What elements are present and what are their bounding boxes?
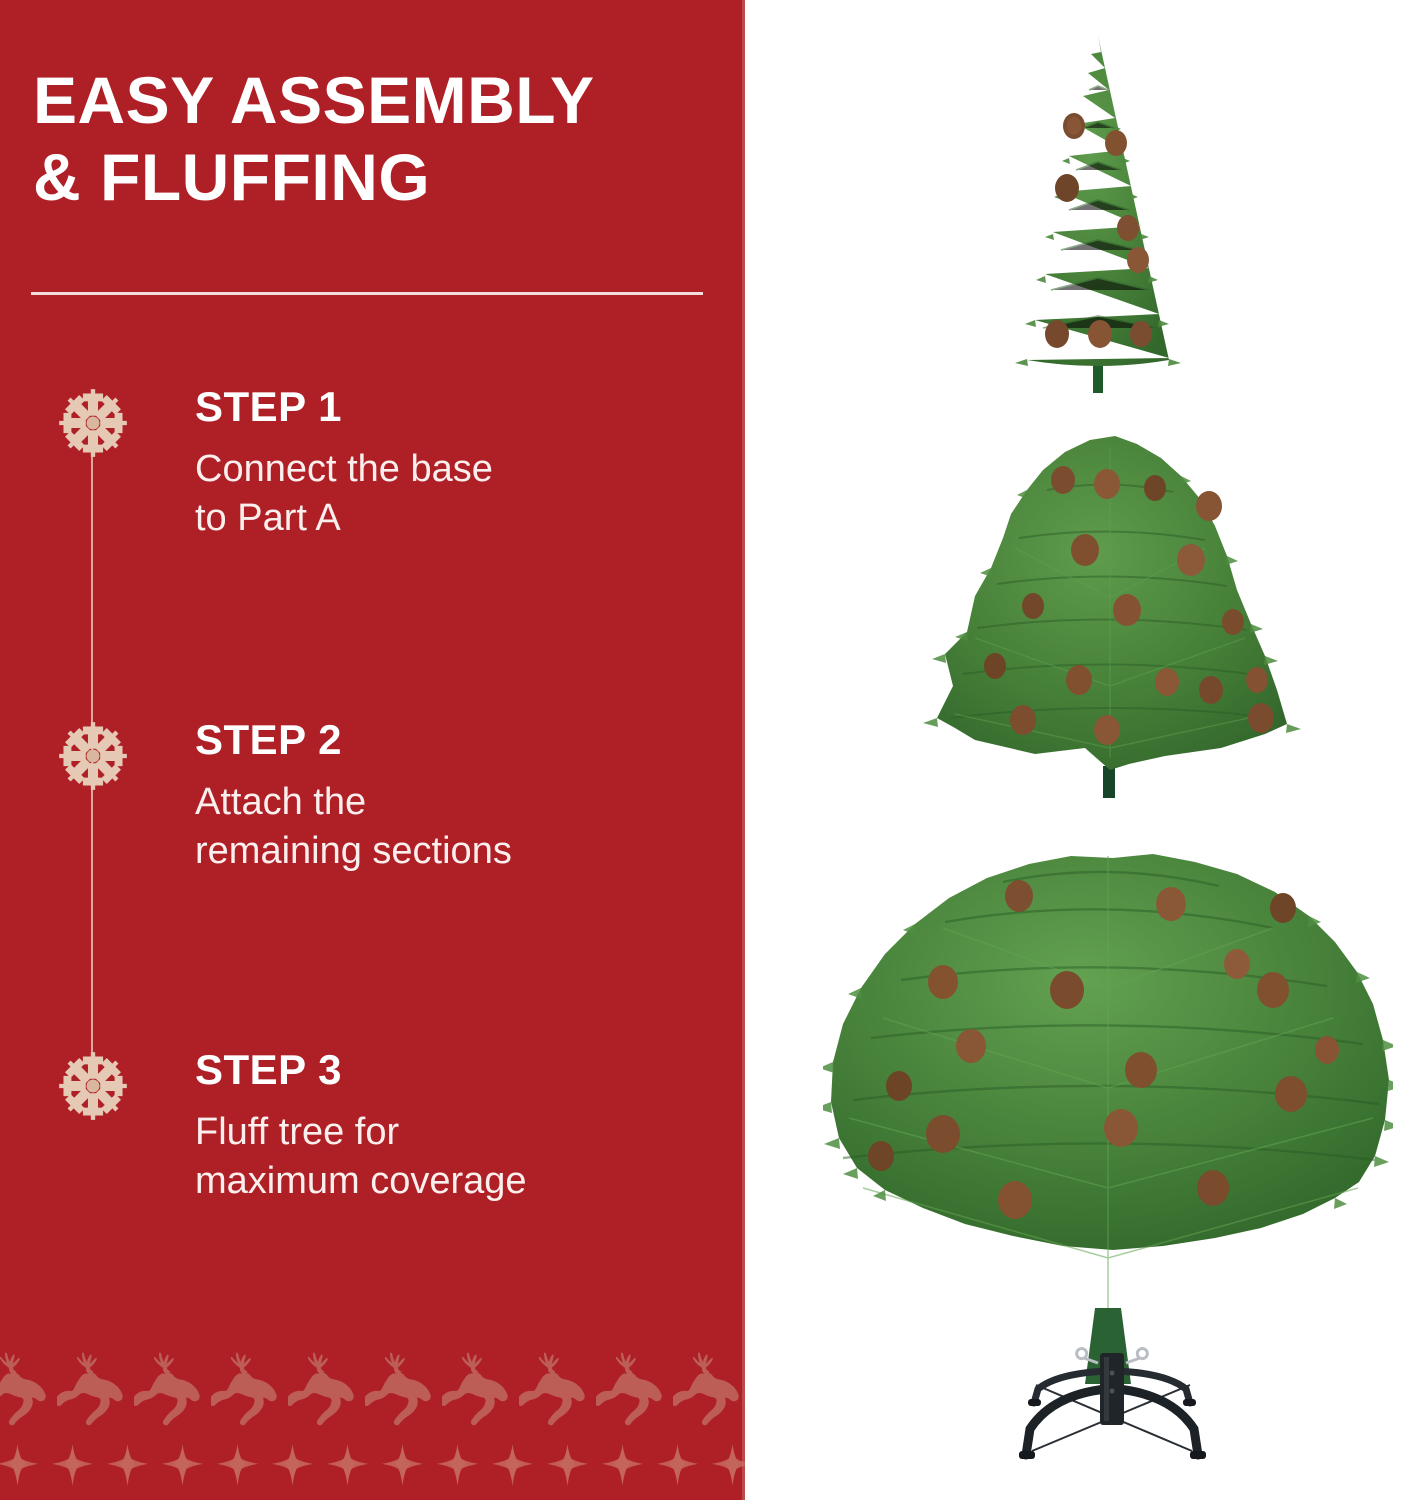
- instructions-panel: EASY ASSEMBLY & FLUFFING: [0, 0, 745, 1500]
- four-point-star-icon: [375, 1442, 430, 1488]
- snowflake-icon: [57, 720, 129, 792]
- reindeer-icon: [442, 1348, 519, 1426]
- four-point-star-icon: [705, 1442, 745, 1488]
- reindeer-icon: [288, 1348, 365, 1426]
- four-point-star-icon: [265, 1442, 320, 1488]
- product-photo-area: [745, 0, 1415, 1500]
- page-title-line-2: & FLUFFING: [33, 139, 723, 216]
- reindeer-icon: [211, 1348, 288, 1426]
- step-1-description: Connect the base to Part A: [195, 445, 715, 544]
- four-point-star-icon: [210, 1442, 265, 1488]
- step-1-text: STEP 1 Connect the base to Part A: [195, 385, 715, 544]
- four-point-star-icon: [100, 1442, 155, 1488]
- four-point-star-icon: [155, 1442, 210, 1488]
- step-3-description: Fluff tree for maximum coverage: [195, 1108, 715, 1207]
- reindeer-icon: [57, 1348, 134, 1426]
- assembly-infographic: EASY ASSEMBLY & FLUFFING: [0, 0, 1415, 1500]
- snowflake-icon: [57, 1050, 129, 1122]
- four-point-star-icon: [430, 1442, 485, 1488]
- reindeer-icon: [596, 1348, 673, 1426]
- step-2-description: Attach the remaining sections: [195, 778, 715, 877]
- step-2-text: STEP 2 Attach the remaining sections: [195, 718, 715, 877]
- star-pattern-row: [0, 1440, 745, 1490]
- page-title-line-1: EASY ASSEMBLY: [33, 62, 723, 139]
- title-divider: [31, 292, 703, 295]
- tree-stand: [1000, 1345, 1225, 1480]
- step-3-text: STEP 3 Fluff tree for maximum coverage: [195, 1048, 715, 1207]
- tree-section-middle: [915, 418, 1305, 803]
- four-point-star-icon: [650, 1442, 705, 1488]
- tree-section-bottom: [823, 838, 1393, 1398]
- step-1-label: STEP 1: [195, 385, 715, 429]
- reindeer-icon: [0, 1348, 57, 1426]
- four-point-star-icon: [540, 1442, 595, 1488]
- reindeer-icon: [365, 1348, 442, 1426]
- four-point-star-icon: [485, 1442, 540, 1488]
- decorative-pattern-band: [0, 1340, 745, 1500]
- reindeer-icon: [134, 1348, 211, 1426]
- reindeer-icon: [673, 1348, 745, 1426]
- four-point-star-icon: [0, 1442, 45, 1488]
- snowflake-icon: [57, 387, 129, 459]
- reindeer-pattern-row: [0, 1348, 745, 1428]
- step-3-label: STEP 3: [195, 1048, 715, 1092]
- step-2-label: STEP 2: [195, 718, 715, 762]
- four-point-star-icon: [320, 1442, 375, 1488]
- page-title: EASY ASSEMBLY & FLUFFING: [33, 62, 723, 215]
- tree-section-top: [973, 28, 1223, 398]
- four-point-star-icon: [45, 1442, 100, 1488]
- reindeer-icon: [519, 1348, 596, 1426]
- four-point-star-icon: [595, 1442, 650, 1488]
